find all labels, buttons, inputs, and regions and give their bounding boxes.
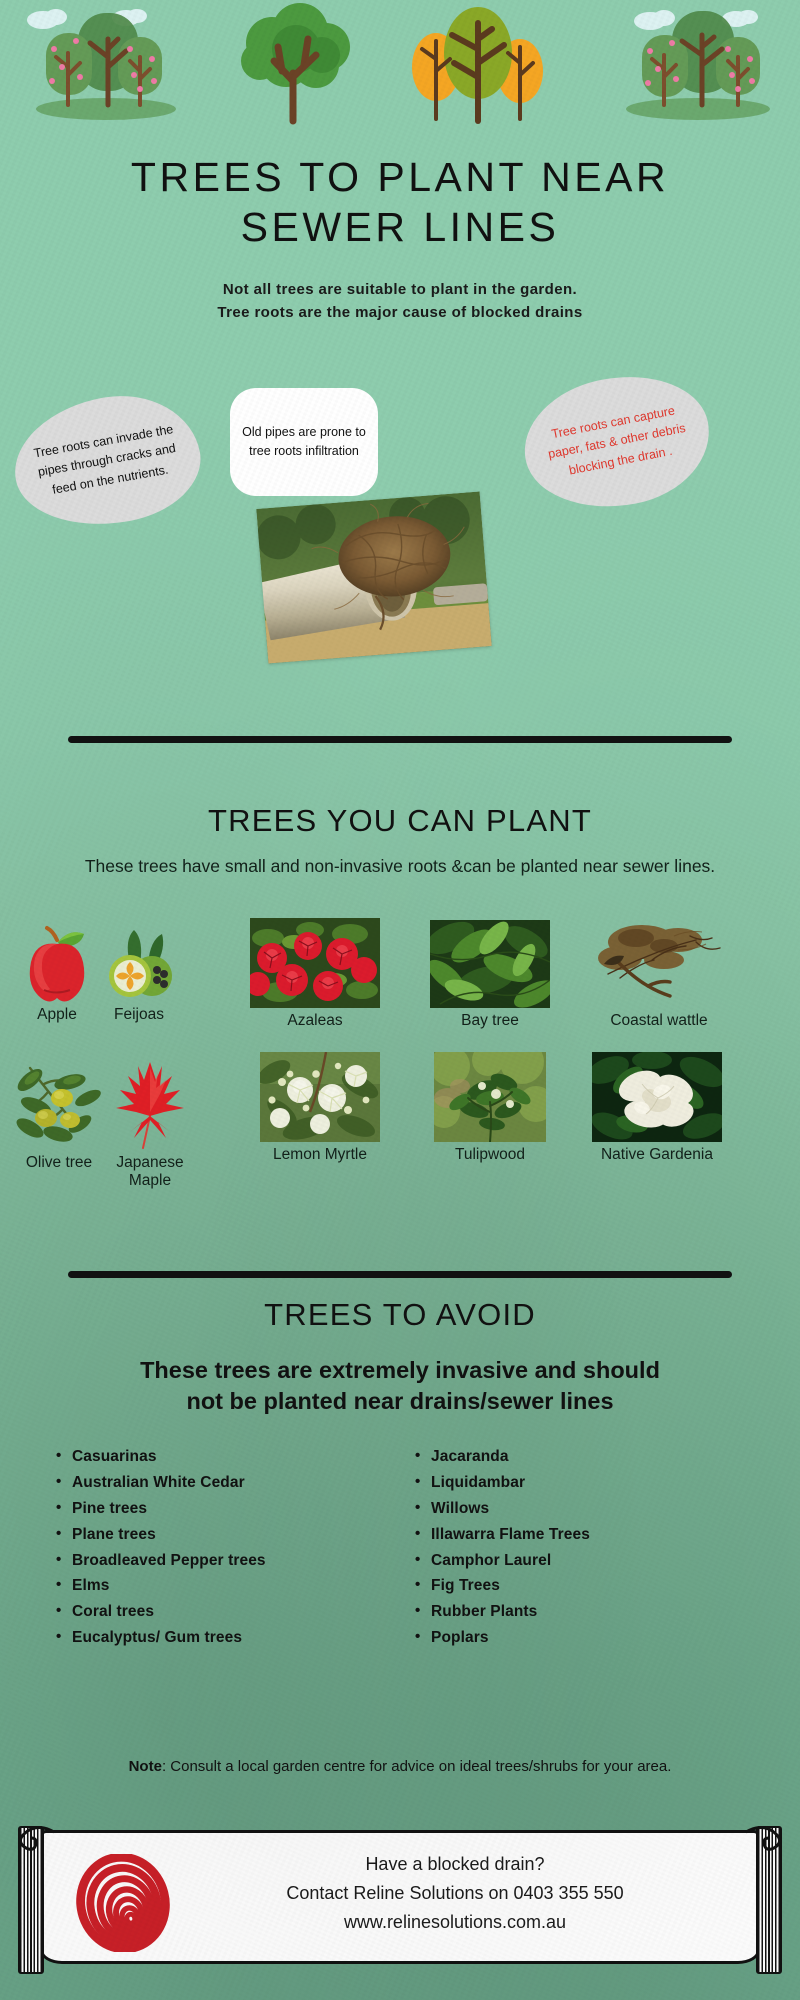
plant-item-label: Apple xyxy=(18,1006,96,1024)
advice-note: Note: Consult a local garden centre for … xyxy=(14,1756,786,1777)
plant-item-lemon-myrtle: Lemon Myrtle xyxy=(260,1052,380,1164)
plant-item-feijoas: Feijoas xyxy=(100,924,178,1024)
section-divider xyxy=(68,1271,732,1278)
plant-item-tulipwood: Tulipwood xyxy=(434,1052,546,1164)
avoid-list-item: Jacaranda xyxy=(415,1444,745,1470)
avoid-heading-line2: not be planted near drains/sewer lines xyxy=(24,1386,776,1417)
plant-item-label: Azaleas xyxy=(250,1012,380,1030)
plant-section-title: TREES YOU CAN PLANT xyxy=(0,803,800,839)
avoid-list-item: Pine trees xyxy=(56,1496,386,1522)
header-tree-band xyxy=(0,0,800,125)
fact-bubble-old-pipes-text: Old pipes are prone to tree roots infilt… xyxy=(242,423,366,462)
banner-curl-right-icon xyxy=(744,1826,784,1854)
plant-item-label: Native Gardenia xyxy=(592,1146,722,1164)
plant-item-label: Olive tree xyxy=(14,1154,104,1172)
page-title-line1: TREES TO PLANT NEAR xyxy=(0,152,800,202)
avoid-list-item: Eucalyptus/ Gum trees xyxy=(56,1625,386,1651)
bay-leaf-photo xyxy=(430,920,550,1008)
avoid-list-item: Illawarra Flame Trees xyxy=(415,1522,745,1548)
plant-item-label: Feijoas xyxy=(100,1006,178,1024)
broadleaf-tree-icon xyxy=(230,3,360,125)
fact-bubble-debris-capture: Tree roots can capture paper, fats & oth… xyxy=(513,361,720,522)
footer-line-website[interactable]: www.relinesolutions.com.au xyxy=(164,1908,746,1937)
avoid-list-item: Liquidambar xyxy=(415,1470,745,1496)
tulipwood-photo xyxy=(434,1052,546,1142)
avoid-list-item: Camphor Laurel xyxy=(415,1548,745,1574)
page-subtitle-line2: Tree roots are the major cause of blocke… xyxy=(0,301,800,324)
blossom-tree-cluster-icon xyxy=(18,5,188,125)
plant-item-coastal-wattle: Coastal wattle xyxy=(594,916,724,1030)
azalea-photo xyxy=(250,918,380,1008)
banner-curl-left-icon xyxy=(16,1826,56,1854)
reline-solutions-spiral-logo xyxy=(74,1854,172,1952)
avoid-list-item: Fig Trees xyxy=(415,1573,745,1599)
tree-roots-blocking-sewer-pipe-photo xyxy=(256,491,491,663)
fact-bubble-old-pipes: Old pipes are prone to tree roots infilt… xyxy=(230,388,378,496)
feijoa-icon xyxy=(100,924,178,1002)
avoid-list-item: Casuarinas xyxy=(56,1444,386,1470)
avoid-section-title: TREES TO AVOID xyxy=(0,1297,800,1333)
avoid-list-item: Australian White Cedar xyxy=(56,1470,386,1496)
avoid-list-right: JacarandaLiquidambarWillowsIllawarra Fla… xyxy=(415,1444,745,1651)
footer-banner: Have a blocked drain? Contact Reline Sol… xyxy=(14,1826,786,1974)
plant-item-azaleas: Azaleas xyxy=(250,918,380,1030)
advice-note-text: : Consult a local garden centre for advi… xyxy=(162,1758,671,1775)
maple-leaf-icon xyxy=(110,1058,190,1150)
avoid-list-item: Elms xyxy=(56,1573,386,1599)
footer-line-question: Have a blocked drain? xyxy=(164,1850,746,1879)
plant-item-label: Bay tree xyxy=(430,1012,550,1030)
avoid-list-item: Willows xyxy=(415,1496,745,1522)
avoid-list-left: CasuarinasAustralian White CedarPine tre… xyxy=(56,1444,386,1651)
plant-item-label: Lemon Myrtle xyxy=(260,1146,380,1164)
plant-item-olive-tree: Olive tree xyxy=(14,1058,104,1172)
olive-branch-icon xyxy=(14,1058,104,1150)
fact-bubble-root-invasion-text: Tree roots can invade the pipes through … xyxy=(22,418,192,503)
fact-bubble-debris-capture-text: Tree roots can capture paper, fats & oth… xyxy=(532,398,702,486)
plant-item-label: Tulipwood xyxy=(434,1146,546,1164)
advice-note-label: Note xyxy=(129,1758,162,1775)
infographic-page: TREES TO PLANT NEAR SEWER LINES Not all … xyxy=(0,0,800,2000)
avoid-list-item: Rubber Plants xyxy=(415,1599,745,1625)
plant-item-label: Coastal wattle xyxy=(594,1012,724,1030)
fact-bubble-root-invasion: Tree roots can invade the pipes through … xyxy=(4,383,209,539)
blossom-tree-cluster-icon xyxy=(612,5,782,125)
plant-item-label: Japanese Maple xyxy=(110,1154,190,1190)
avoid-list-item: Plane trees xyxy=(56,1522,386,1548)
page-title: TREES TO PLANT NEAR SEWER LINES xyxy=(0,152,800,252)
plant-section-subtitle: These trees have small and non-invasive … xyxy=(30,855,770,879)
plant-item-apple: Apple xyxy=(18,924,96,1024)
avoid-list-left-items: CasuarinasAustralian White CedarPine tre… xyxy=(56,1444,386,1651)
page-subtitle: Not all trees are suitable to plant in t… xyxy=(0,278,800,325)
avoid-list-item: Poplars xyxy=(415,1625,745,1651)
plant-item-native-gardenia: Native Gardenia xyxy=(592,1052,722,1164)
coastal-wattle-icon xyxy=(594,916,724,1008)
native-gardenia-photo xyxy=(592,1052,722,1142)
avoid-list-item: Coral trees xyxy=(56,1599,386,1625)
avoid-heading-line1: These trees are extremely invasive and s… xyxy=(24,1355,776,1386)
page-subtitle-line1: Not all trees are suitable to plant in t… xyxy=(0,278,800,301)
pipe-photo-art xyxy=(256,491,491,663)
plant-item-japanese-maple: Japanese Maple xyxy=(110,1058,190,1190)
avoid-list-item: Broadleaved Pepper trees xyxy=(56,1548,386,1574)
apple-icon xyxy=(18,924,96,1002)
section-divider xyxy=(68,736,732,743)
autumn-tree-cluster-icon xyxy=(402,5,552,125)
page-title-line2: SEWER LINES xyxy=(0,202,800,252)
footer-line-phone: Contact Reline Solutions on 0403 355 550 xyxy=(164,1879,746,1908)
avoid-list-right-items: JacarandaLiquidambarWillowsIllawarra Fla… xyxy=(415,1444,745,1651)
lemon-myrtle-photo xyxy=(260,1052,380,1142)
plant-item-bay-tree: Bay tree xyxy=(430,920,550,1030)
avoid-section-heading: These trees are extremely invasive and s… xyxy=(24,1355,776,1416)
footer-contact-text: Have a blocked drain? Contact Reline Sol… xyxy=(164,1850,746,1937)
